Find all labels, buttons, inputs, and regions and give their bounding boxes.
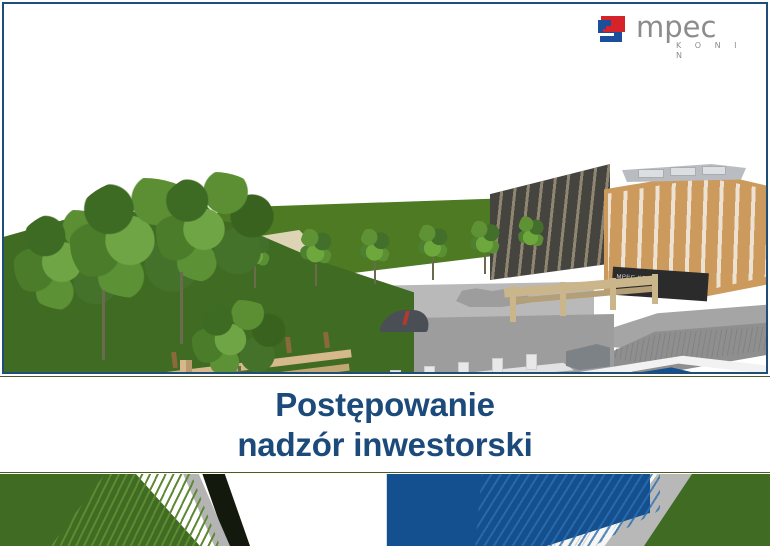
render-tree-large [156,172,276,282]
logo-subtitle: K O N I N [676,41,752,61]
render-pergola-post [610,278,616,310]
render-tree [518,212,544,252]
render-roof-unit [670,167,696,176]
render-pergola-post [652,274,658,304]
render-tree-trunk [180,272,183,344]
render-pylon [458,362,469,372]
logo-wordmark: mpec [636,12,716,42]
company-logo: mpec K O N I N [592,10,752,56]
mpec-logo-mark-icon [592,12,632,50]
render-pergola-post [560,282,566,316]
render-pergola-post [510,286,516,322]
bottom-decorative-strip [0,474,770,546]
presentation-slide: mpec K O N I N MPEC KONIN [0,0,770,546]
render-tree-trunk [238,366,241,372]
render-tree-trunk [432,258,434,280]
render-pylon [492,358,503,372]
strip-water-texture [330,474,660,546]
render-pylon [390,370,401,372]
slide-title-line-1: Postępowanie [275,385,494,425]
render-roof-unit [638,169,664,178]
architectural-render-image: MPEC KONIN [4,60,766,372]
divider-rule-top [0,376,770,377]
render-tree-trunk [484,254,486,274]
render-pylon [526,354,537,370]
render-pylon [424,366,435,372]
render-tree-trunk [315,264,317,286]
divider-rule-bottom [0,472,770,473]
render-tree-trunk [102,290,105,360]
render-roof-unit [702,166,726,175]
slide-title-line-2: nadzór inwestorski [237,425,532,465]
slide-title-block: Postępowanie nadzór inwestorski [0,378,770,471]
render-pergola-post [186,360,192,372]
slide-image-frame: mpec K O N I N MPEC KONIN [2,2,768,374]
render-tree-trunk [374,262,376,284]
render-tree-foreground [192,300,288,372]
